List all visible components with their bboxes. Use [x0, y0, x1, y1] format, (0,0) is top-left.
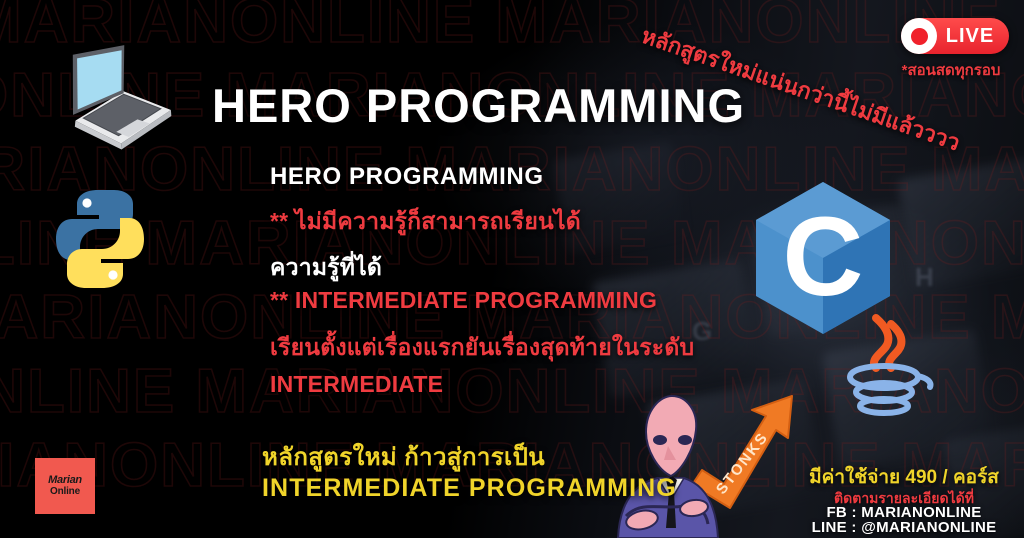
- body-line-3: ** INTERMEDIATE PROGRAMMING: [270, 287, 657, 314]
- stonks-meme-illustration: STONKS: [606, 388, 811, 538]
- page-title: HERO PROGRAMMING: [212, 78, 745, 133]
- java-logo-icon: [826, 312, 940, 424]
- line-handle: LINE : @MARIANONLINE: [790, 519, 1018, 536]
- marian-online-logo: Marian Online: [35, 458, 95, 514]
- body-line-1: ** ไม่มีความรู้ก็สามารถเรียนได้: [270, 204, 581, 240]
- live-badge: LIVE: [901, 18, 1009, 54]
- live-badge-label: LIVE: [937, 25, 1009, 48]
- body-line-5: INTERMEDIATE: [270, 371, 443, 398]
- live-note: *สอนสดทุกรอบ: [886, 58, 1016, 82]
- laptop-icon: [52, 44, 174, 154]
- live-record-icon: [901, 18, 937, 54]
- footer-line-1: หลักสูตรใหม่ ก้าวสู่การเป็น: [262, 437, 545, 476]
- svg-text:C: C: [783, 194, 864, 319]
- poster-canvas: G H MARIANONLINE MARIANONLINE MARIANONLI…: [0, 0, 1024, 538]
- body-line-2: ความรู้ที่ได้: [270, 250, 382, 286]
- python-logo-icon: [47, 186, 153, 292]
- live-dot: [911, 28, 928, 45]
- page-subtitle: HERO PROGRAMMING: [270, 163, 544, 191]
- logo-line-2: Online: [50, 487, 80, 498]
- body-line-4: เรียนตั้งแต่เรื่องแรกยันเรื่องสุดท้ายในร…: [270, 330, 694, 366]
- logo-line-1: Marian: [48, 475, 82, 487]
- footer-line-2: INTERMEDIATE PROGRAMMING: [262, 474, 677, 503]
